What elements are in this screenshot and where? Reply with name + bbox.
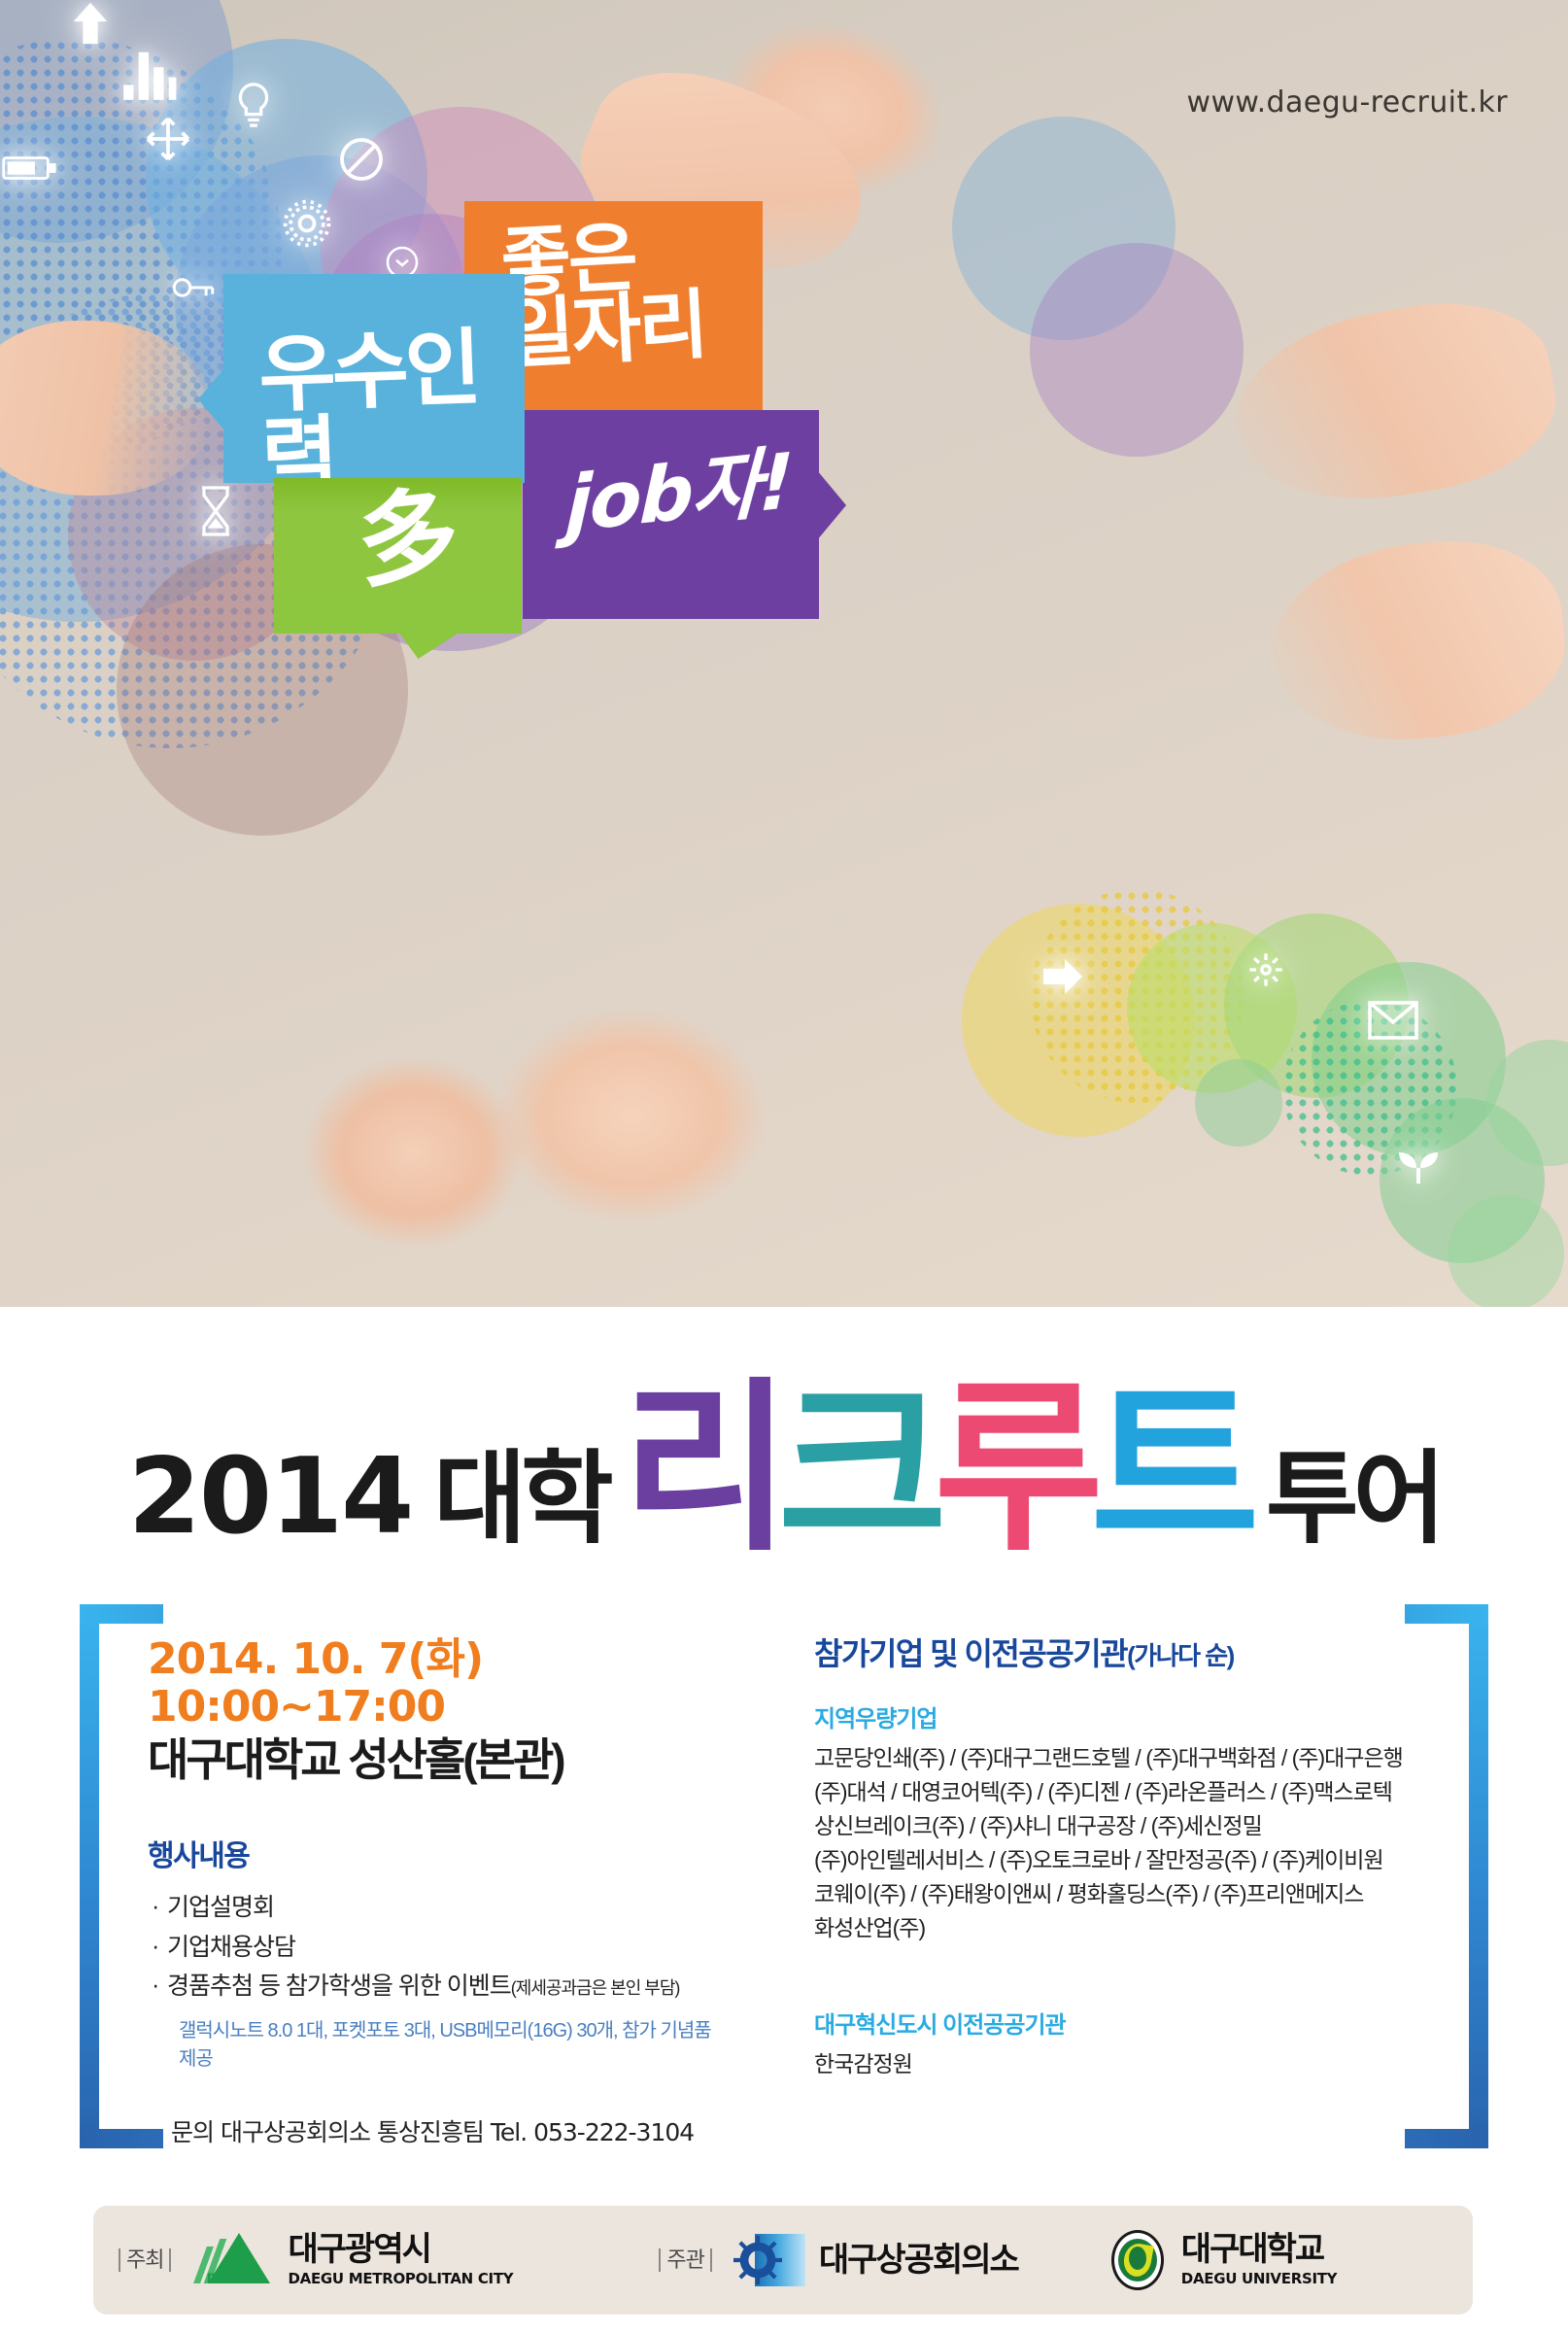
no-entry-icon [338,136,385,183]
event-content-heading: 행사내용 [148,1832,721,1874]
title-char-keu: 크 [777,1392,934,1548]
event-date: 2014. 10. 7(화) 10:00~17:00 [148,1635,721,1732]
title-char-ru: 루 [934,1392,1090,1548]
public-institutions-subheading: 대구혁신도시 이전공공기관 [814,2006,1436,2040]
bokeh-circle [1195,1059,1282,1147]
sprout-icon [1391,1139,1446,1185]
gear-icon [280,196,334,251]
bubble-tail-right [817,470,846,540]
local-companies-list: 고문당인쇄(주) / (주)대구그랜드호텔 / (주)대구백화점 / (주)대구… [814,1741,1436,1945]
hand-right-fingers [1220,285,1568,522]
hand-right-lower [1263,530,1568,753]
daegu-city-name-ko: 대구광역시 [288,2233,513,2266]
title-year: 2014 [128,1445,413,1550]
bracket-right-top-arm [1405,1604,1488,1624]
chamber-of-commerce-logo: 대구상공회의소 [733,2232,1018,2288]
bubble-green-text: 多 [353,485,463,594]
up-arrow-icon [68,0,113,47]
university-name-en: DAEGU UNIVERSITY [1181,2270,1337,2287]
daegu-mark-text: DAEGU [206,2272,259,2287]
page-title: 2014 대학 리 크 루 트 투어 [0,1392,1568,1550]
daegu-university-logo: 대구대학교 DAEGU UNIVERSITY [1108,2230,1337,2290]
participants-column: 참가기업 및 이전공공기관(가나다 순) 지역우량기업 고문당인쇄(주) / (… [814,1630,1436,2078]
tax-note: (제세공과금은 본인 부담) [511,1978,680,1998]
gear-icon [1246,950,1285,989]
bracket-right-bottom-arm [1405,2129,1488,2148]
event-info-column: 2014. 10. 7(화) 10:00~17:00 대구대학교 성산홀(본관)… [148,1635,721,2148]
gear-icon [733,2232,807,2288]
footer-bar: 주최 DAEGU 대구광역시 DAEGU METROPOLITAN CITY 주… [93,2206,1473,2315]
website-url: www.daegu-recruit.kr [1187,86,1508,120]
daegu-city-logo: DAEGU 대구광역시 DAEGU METROPOLITAN CITY [192,2231,513,2289]
contact-info: 문의 대구상공회의소 통상진흥팀 Tel. 053-222-3104 [148,2113,721,2148]
public-institution-item: 한국감정원 [814,2045,1436,2078]
participants-heading: 참가기업 및 이전공공기관(가나다 순) [814,1630,1436,1674]
hourglass-icon [196,486,235,536]
university-seal-inner [1129,2247,1146,2270]
bracket-left-top-arm [80,1604,163,1624]
bar-chart-icon [119,45,179,105]
list-item: 기업설명회 [148,1888,721,1928]
daegu-triangle-icon: DAEGU [192,2231,276,2289]
battery-icon [2,154,56,183]
move-arrows-icon [144,115,192,163]
key-icon [171,268,216,307]
title-char-ri: 리 [622,1392,778,1548]
bubble-orange-text: 좋은일자리 [499,220,707,372]
organizer-label: 주관 [659,2248,711,2272]
bokeh-circle [1030,243,1244,457]
list-item: 화성산업(주) [814,1911,1436,1945]
title-char-teu: 트 [1090,1392,1246,1548]
local-companies-subheading: 지역우량기업 [814,1699,1436,1733]
bubble-purple-text: job자! [564,444,793,543]
participants-heading-note: (가나다 순) [1127,1641,1234,1670]
bubble-blue-text: 우수인력 [257,326,528,498]
list-item: 경품추첨 등 참가학생을 위한 이벤트(제세공과금은 본인 부담) [148,1967,721,2007]
event-venue: 대구대학교 성산홀(본관) [148,1735,721,1786]
title-tour: 투어 [1266,1449,1440,1550]
speech-bubble-green: 多 [274,478,522,634]
list-item: 상신브레이크(주) / (주)샤니 대구공장 / (주)세신정밀 [814,1809,1436,1843]
university-seal-icon [1108,2230,1170,2290]
content-section: 2014 대학 리 크 루 트 투어 2014. 10. 7(화) 10:00~… [0,1307,1568,2333]
speech-bubble-blue: 우수인력 [223,274,525,483]
prize-list: 갤럭시노트 8.0 1대, 포켓포토 3대, USB메모리(16G) 30개, … [148,2014,721,2071]
speech-bubble-purple: job자! [523,410,819,619]
list-item: 코웨이(주) / (주)태왕이앤씨 / 평화홀딩스(주) / (주)프리앤메지스 [814,1877,1436,1911]
right-arrow-icon [1040,957,1086,996]
list-item: 기업채용상담 [148,1928,721,1968]
lightbulb-icon [231,80,276,130]
daegu-city-name-en: DAEGU METROPOLITAN CITY [288,2270,513,2287]
event-bullet-list: 기업설명회 기업채용상담 경품추첨 등 참가학생을 위한 이벤트(제세공과금은 … [148,1888,721,2007]
hero-image: www.daegu-recruit.kr 좋은일자리 job자! 우수인력 多 [0,0,1568,1307]
list-item: (주)대석 / 대영코어텍(주) / (주)디젠 / (주)라온플러스 / (주… [814,1775,1436,1809]
chamber-name-ko: 대구상공회의소 [819,2244,1018,2277]
cci-gear-shape [733,2236,782,2284]
host-label: 주최 [119,2248,171,2272]
title-recruit: 리 크 루 트 [622,1392,1246,1548]
envelope-icon [1368,1001,1418,1040]
title-daehak: 대학 [433,1449,607,1550]
university-name-ko: 대구대학교 [1181,2233,1337,2266]
bokeh-circle [1448,1195,1564,1307]
list-item: 고문당인쇄(주) / (주)대구그랜드호텔 / (주)대구백화점 / (주)대구… [814,1741,1436,1775]
list-item: (주)아인텔레서비스 / (주)오토크로바 / 잘만정공(주) / (주)케이비… [814,1843,1436,1877]
